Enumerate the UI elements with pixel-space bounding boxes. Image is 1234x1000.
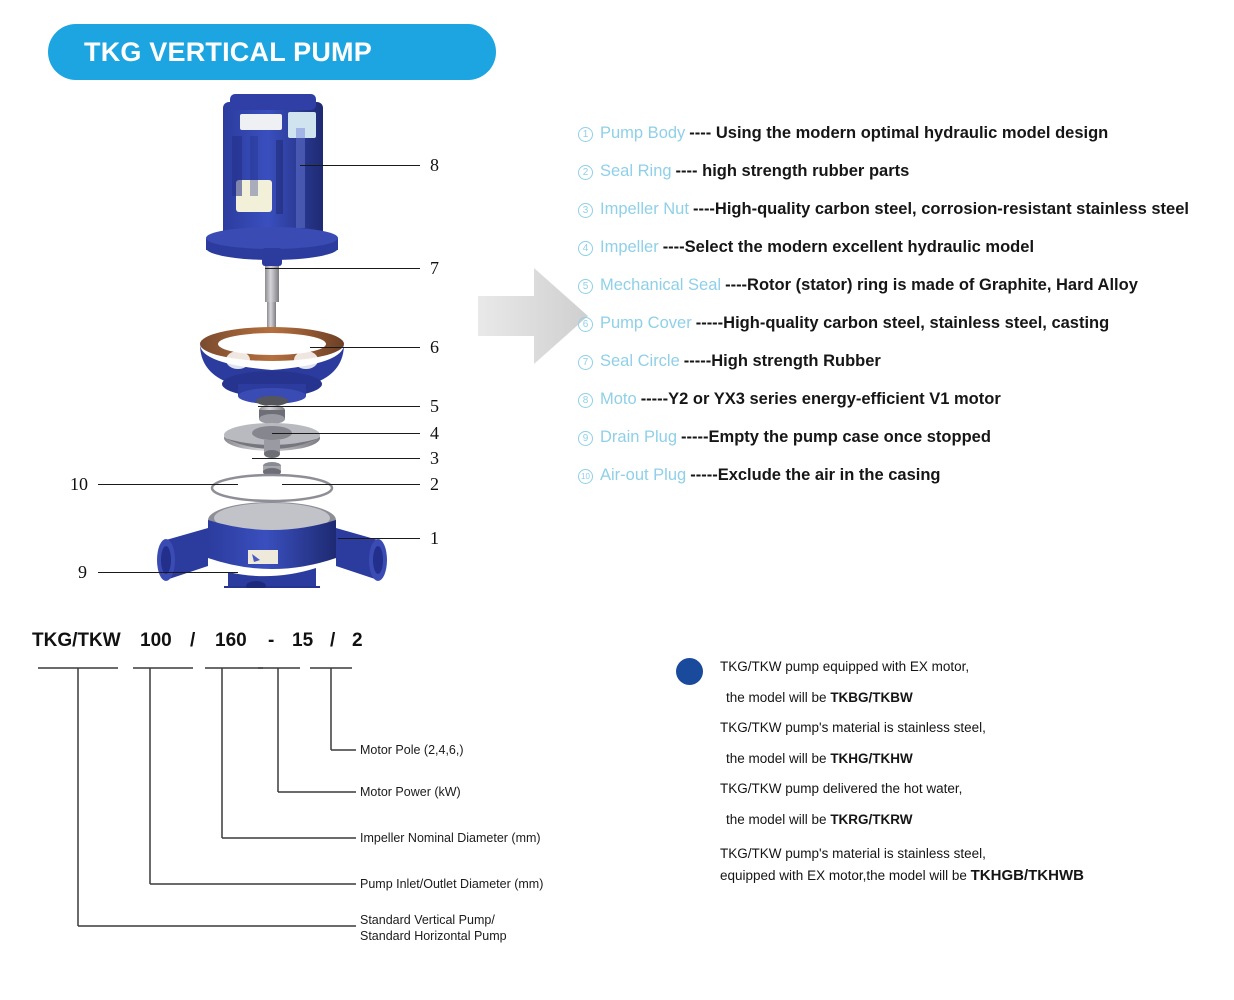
- callout-leader: [282, 484, 420, 485]
- breakdown-label-motor-pole: Motor Pole (2,4,6,): [360, 742, 464, 758]
- note-line: TKG/TKW pump equipped with EX motor,: [720, 652, 1216, 683]
- legend-part-name: Drain Plug: [600, 428, 677, 447]
- callout-leader: [98, 572, 238, 573]
- callout-leader: [272, 433, 420, 434]
- legend-item: 7 Seal Circle -----High strength Rubber: [578, 352, 1228, 390]
- pump-spec-sheet: TKG VERTICAL PUMP: [0, 0, 1234, 1000]
- note-text: TKG/TKW pump's material is stainless ste…: [720, 846, 986, 861]
- callout-leader: [258, 406, 420, 407]
- model-code-breakdown: TKG/TKW 100 / 160 - 15 / 2: [0, 630, 620, 960]
- motor-part: [206, 94, 338, 260]
- legend-item: 2 Seal Ring ---- high strength rubber pa…: [578, 162, 1228, 200]
- callout-leader: [310, 347, 420, 348]
- breakdown-label-motor-power: Motor Power (kW): [360, 784, 461, 800]
- note-text: equipped with EX motor,the model will be: [720, 868, 971, 883]
- callout-number: 1: [430, 529, 439, 547]
- breakdown-label-standard-vertical: Standard Vertical Pump/: [360, 912, 495, 928]
- note-text: the model will be: [726, 751, 830, 766]
- callout-number: 10: [70, 475, 88, 493]
- legend-number-badge: 7: [578, 355, 593, 370]
- note-text: the model will be: [726, 690, 830, 705]
- note-line: the model will be TKBG/TKBW: [720, 683, 1216, 714]
- breakdown-label-standard-horizontal: Standard Horizontal Pump: [360, 928, 507, 944]
- note-text: TKG/TKW pump delivered the hot water,: [720, 781, 962, 796]
- callout-number: 8: [430, 156, 439, 174]
- callout-number: 4: [430, 424, 439, 442]
- shaft-part: [262, 248, 282, 334]
- legend-description: -----High-quality carbon steel, stainles…: [696, 314, 1110, 333]
- note-line: equipped with EX motor,the model will be…: [720, 865, 1216, 887]
- callout-leader: [98, 484, 238, 485]
- note-line: the model will be TKRG/TKRW: [720, 805, 1216, 836]
- note-line: TKG/TKW pump's material is stainless ste…: [720, 713, 1216, 744]
- flow-arrow-icon: [478, 262, 590, 370]
- legend-number-badge: 1: [578, 127, 593, 142]
- breakdown-label-impeller-dia: Impeller Nominal Diameter (mm): [360, 830, 541, 846]
- legend-number-badge: 10: [578, 469, 593, 484]
- legend-item: 6 Pump Cover -----High-quality carbon st…: [578, 314, 1228, 352]
- legend-part-name: Air-out Plug: [600, 466, 686, 485]
- parts-legend: 1 Pump Body ---- Using the modern optima…: [578, 124, 1228, 504]
- legend-part-name: Mechanical Seal: [600, 276, 721, 295]
- note-line: the model will be TKHG/TKHW: [720, 744, 1216, 775]
- callout-number: 7: [430, 259, 439, 277]
- legend-item: 10 Air-out Plug -----Exclude the air in …: [578, 466, 1228, 504]
- legend-item: 4 Impeller ----Select the modern excelle…: [578, 238, 1228, 276]
- legend-part-name: Seal Ring: [600, 162, 672, 181]
- legend-item: 5 Mechanical Seal ----Rotor (stator) rin…: [578, 276, 1228, 314]
- legend-description: -----Y2 or YX3 series energy-efficient V…: [641, 390, 1001, 409]
- legend-number-badge: 9: [578, 431, 593, 446]
- impeller-part: [224, 423, 320, 458]
- legend-description: ---- high strength rubber parts: [676, 162, 910, 181]
- callout-leader: [300, 165, 420, 166]
- legend-part-name: Pump Body: [600, 124, 685, 143]
- legend-item: 3 Impeller Nut ----High-quality carbon s…: [578, 200, 1228, 238]
- note-model-code: TKBG/TKBW: [830, 690, 912, 705]
- legend-description: ----Rotor (stator) ring is made of Graph…: [725, 276, 1138, 295]
- legend-part-name: Seal Circle: [600, 352, 680, 371]
- callout-number: 9: [78, 563, 87, 581]
- note-model-code: TKRG/TKRW: [830, 812, 912, 827]
- note-text: TKG/TKW pump equipped with EX motor,: [720, 659, 969, 674]
- legend-description: -----Empty the pump case once stopped: [681, 428, 991, 447]
- breakdown-label-inlet-outlet: Pump Inlet/Outlet Diameter (mm): [360, 876, 543, 892]
- legend-description: -----Exclude the air in the casing: [690, 466, 940, 485]
- bullet-dot-icon: [676, 658, 703, 685]
- breakdown-leader-lines: [0, 630, 620, 960]
- callout-leader: [252, 458, 420, 459]
- legend-description: ----Select the modern excellent hydrauli…: [663, 238, 1034, 257]
- legend-number-badge: 3: [578, 203, 593, 218]
- note-text: the model will be: [726, 812, 830, 827]
- callout-number: 2: [430, 475, 439, 493]
- legend-description: ---- Using the modern optimal hydraulic …: [689, 124, 1108, 143]
- legend-number-badge: 5: [578, 279, 593, 294]
- legend-item: 1 Pump Body ---- Using the modern optima…: [578, 124, 1228, 162]
- callout-number: 6: [430, 338, 439, 356]
- title-banner: TKG VERTICAL PUMP: [48, 24, 496, 80]
- legend-description: -----High strength Rubber: [684, 352, 881, 371]
- legend-number-badge: 2: [578, 165, 593, 180]
- legend-number-badge: 6: [578, 317, 593, 332]
- callout-number: 3: [430, 449, 439, 467]
- callout-leader: [338, 538, 420, 539]
- pump-body-part: [157, 502, 387, 588]
- legend-item: 9 Drain Plug -----Empty the pump case on…: [578, 428, 1228, 466]
- page-title: TKG VERTICAL PUMP: [48, 37, 372, 68]
- note-text: TKG/TKW pump's material is stainless ste…: [720, 720, 986, 735]
- legend-part-name: Impeller: [600, 238, 659, 257]
- note-line: TKG/TKW pump delivered the hot water,: [720, 774, 1216, 805]
- note-model-code: TKHG/TKHW: [830, 751, 912, 766]
- note-model-code: TKHGB/TKHWB: [971, 867, 1084, 884]
- callout-leader: [265, 268, 420, 269]
- pump-cover-part: [200, 327, 344, 404]
- impeller-nut-part: [256, 396, 288, 424]
- note-line: TKG/TKW pump's material is stainless ste…: [720, 843, 1216, 865]
- legend-item: 8 Moto -----Y2 or YX3 series energy-effi…: [578, 390, 1228, 428]
- callout-number: 5: [430, 397, 439, 415]
- model-variant-notes: TKG/TKW pump equipped with EX motor, the…: [676, 652, 1216, 887]
- seal-ring-part: [212, 475, 332, 501]
- legend-description: ----High-quality carbon steel, corrosion…: [693, 200, 1189, 219]
- legend-number-badge: 8: [578, 393, 593, 408]
- legend-part-name: Moto: [600, 390, 637, 409]
- legend-part-name: Impeller Nut: [600, 200, 689, 219]
- pump-illustration: [120, 88, 420, 588]
- legend-number-badge: 4: [578, 241, 593, 256]
- legend-part-name: Pump Cover: [600, 314, 692, 333]
